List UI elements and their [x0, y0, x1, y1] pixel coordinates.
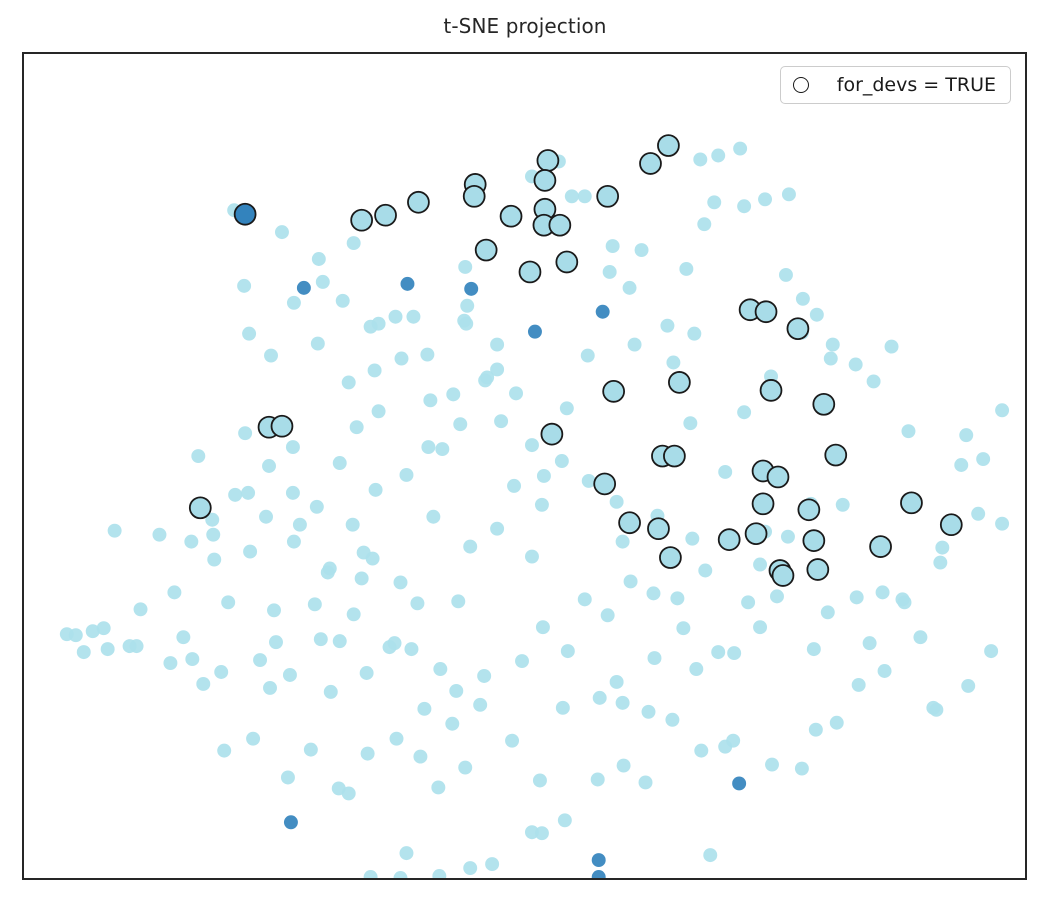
- data-point: [267, 603, 281, 617]
- data-point: [870, 536, 891, 557]
- data-point: [732, 776, 746, 790]
- data-point: [619, 512, 640, 533]
- data-point: [321, 566, 335, 580]
- data-point: [536, 620, 550, 634]
- data-point: [603, 381, 624, 402]
- data-point: [697, 217, 711, 231]
- data-point: [525, 438, 539, 452]
- scatter-plot-canvas: [24, 54, 1025, 878]
- data-point: [581, 349, 595, 363]
- data-point: [399, 468, 413, 482]
- data-point: [420, 348, 434, 362]
- data-point: [214, 665, 228, 679]
- data-point: [660, 319, 674, 333]
- data-point: [610, 675, 624, 689]
- data-point: [297, 281, 311, 295]
- data-point: [287, 296, 301, 310]
- data-point: [351, 210, 372, 231]
- data-point: [304, 743, 318, 757]
- data-point: [185, 652, 199, 666]
- data-point: [624, 574, 638, 588]
- data-point: [694, 744, 708, 758]
- data-point: [959, 428, 973, 442]
- data-point: [617, 759, 631, 773]
- data-point: [935, 541, 949, 555]
- page-title: t-SNE projection: [0, 14, 1050, 38]
- data-point: [628, 338, 642, 352]
- data-point: [458, 761, 472, 775]
- data-point: [761, 380, 782, 401]
- data-point: [679, 262, 693, 276]
- data-point: [108, 524, 122, 538]
- data-point: [347, 607, 361, 621]
- data-point: [410, 596, 424, 610]
- data-point: [355, 571, 369, 585]
- data-point: [913, 630, 927, 644]
- data-point: [494, 414, 508, 428]
- data-point: [768, 466, 789, 487]
- data-point: [361, 747, 375, 761]
- data-point: [241, 486, 255, 500]
- data-point: [389, 310, 403, 324]
- data-point: [176, 630, 190, 644]
- data-point: [665, 713, 679, 727]
- data-point: [476, 240, 497, 261]
- data-point: [597, 186, 618, 207]
- data-point: [664, 446, 685, 467]
- data-point: [658, 135, 679, 156]
- data-point: [163, 656, 177, 670]
- data-point: [360, 666, 374, 680]
- scatter-series: [190, 135, 962, 586]
- data-point: [647, 586, 661, 600]
- data-point: [449, 684, 463, 698]
- data-point: [901, 492, 922, 513]
- data-point: [394, 871, 408, 878]
- data-point: [451, 594, 465, 608]
- data-point: [404, 642, 418, 656]
- data-points-layer: [60, 135, 1009, 878]
- data-point: [333, 456, 347, 470]
- data-point: [101, 642, 115, 656]
- data-point: [961, 679, 975, 693]
- data-point: [311, 337, 325, 351]
- data-point: [971, 507, 985, 521]
- data-point: [507, 479, 521, 493]
- data-point: [623, 281, 637, 295]
- data-point: [737, 405, 751, 419]
- data-point: [737, 199, 751, 213]
- data-point: [346, 518, 360, 532]
- data-point: [152, 528, 166, 542]
- data-point: [283, 668, 297, 682]
- data-point: [515, 654, 529, 668]
- data-point: [264, 349, 278, 363]
- data-point: [453, 417, 467, 431]
- data-point: [876, 585, 890, 599]
- data-point: [272, 416, 293, 437]
- data-point: [826, 338, 840, 352]
- data-point: [711, 149, 725, 163]
- data-point: [809, 723, 823, 737]
- scatter-series: [235, 204, 256, 225]
- data-point: [534, 170, 555, 191]
- data-point: [601, 608, 615, 622]
- data-point: [314, 632, 328, 646]
- data-point: [207, 553, 221, 567]
- data-point: [782, 187, 796, 201]
- data-point: [408, 192, 429, 213]
- data-point: [246, 732, 260, 746]
- data-point: [206, 528, 220, 542]
- data-point: [867, 374, 881, 388]
- data-point: [741, 595, 755, 609]
- data-point: [473, 698, 487, 712]
- data-point: [312, 252, 326, 266]
- data-point: [394, 575, 408, 589]
- data-point: [433, 662, 447, 676]
- data-point: [807, 642, 821, 656]
- data-point: [490, 522, 504, 536]
- data-point: [726, 734, 740, 748]
- data-point: [342, 786, 356, 800]
- data-point: [190, 497, 211, 518]
- data-point: [549, 215, 570, 236]
- data-point: [558, 813, 572, 827]
- data-point: [616, 696, 630, 710]
- data-point: [596, 305, 610, 319]
- data-point: [395, 352, 409, 366]
- data-point: [640, 153, 661, 174]
- data-point: [284, 815, 298, 829]
- data-point: [610, 495, 624, 509]
- data-point: [259, 510, 273, 524]
- data-point: [281, 771, 295, 785]
- data-point: [863, 636, 877, 650]
- data-point: [578, 189, 592, 203]
- data-point: [798, 499, 819, 520]
- data-point: [594, 473, 615, 494]
- data-point: [134, 602, 148, 616]
- data-point: [286, 440, 300, 454]
- data-point: [390, 732, 404, 746]
- data-point: [237, 279, 251, 293]
- data-point: [556, 252, 577, 273]
- data-point: [184, 535, 198, 549]
- data-point: [520, 261, 541, 282]
- data-point: [421, 440, 435, 454]
- data-point: [69, 628, 83, 642]
- data-point: [235, 204, 256, 225]
- data-point: [821, 605, 835, 619]
- data-point: [765, 758, 779, 772]
- data-point: [555, 454, 569, 468]
- data-point: [400, 277, 414, 291]
- data-point: [727, 646, 741, 660]
- data-point: [683, 416, 697, 430]
- data-point: [954, 458, 968, 472]
- data-point: [976, 452, 990, 466]
- data-point: [836, 498, 850, 512]
- data-point: [541, 424, 562, 445]
- data-point: [423, 393, 437, 407]
- data-point: [316, 275, 330, 289]
- data-point: [485, 857, 499, 871]
- data-point: [490, 338, 504, 352]
- data-point: [269, 635, 283, 649]
- data-point: [364, 870, 378, 878]
- data-point: [537, 469, 551, 483]
- data-point: [123, 639, 137, 653]
- data-point: [342, 375, 356, 389]
- data-point: [885, 340, 899, 354]
- data-point: [711, 645, 725, 659]
- data-point: [287, 535, 301, 549]
- data-point: [616, 535, 630, 549]
- data-point: [878, 664, 892, 678]
- data-point: [293, 518, 307, 532]
- data-point: [685, 532, 699, 546]
- data-point: [464, 186, 485, 207]
- data-point: [350, 420, 364, 434]
- data-point: [460, 299, 474, 313]
- data-point: [509, 386, 523, 400]
- data-point: [308, 597, 322, 611]
- data-point: [446, 387, 460, 401]
- data-point: [463, 540, 477, 554]
- data-point: [275, 225, 289, 239]
- data-point: [336, 294, 350, 308]
- data-point: [417, 702, 431, 716]
- data-point: [426, 510, 440, 524]
- legend: for_devs = TRUE: [780, 66, 1011, 104]
- data-point: [901, 424, 915, 438]
- data-point: [810, 308, 824, 322]
- data-point: [746, 523, 767, 544]
- data-point: [286, 486, 300, 500]
- data-point: [565, 189, 579, 203]
- data-point: [406, 310, 420, 324]
- data-point: [477, 669, 491, 683]
- data-point: [825, 445, 846, 466]
- data-point: [537, 150, 558, 171]
- data-point: [324, 685, 338, 699]
- legend-label: for_devs = TRUE: [837, 74, 996, 96]
- data-point: [660, 547, 681, 568]
- data-point: [689, 662, 703, 676]
- legend-circle-icon: [793, 77, 809, 93]
- data-point: [383, 640, 397, 654]
- data-point: [535, 826, 549, 840]
- data-point: [807, 559, 828, 580]
- data-point: [458, 260, 472, 274]
- data-point: [77, 645, 91, 659]
- data-point: [995, 403, 1009, 417]
- data-point: [779, 268, 793, 282]
- data-point: [435, 442, 449, 456]
- data-point: [263, 681, 277, 695]
- data-point: [347, 236, 361, 250]
- data-point: [849, 358, 863, 372]
- data-point: [228, 488, 242, 502]
- data-point: [753, 493, 774, 514]
- data-point: [243, 545, 257, 559]
- data-point: [593, 691, 607, 705]
- data-point: [603, 265, 617, 279]
- data-point: [770, 589, 784, 603]
- data-point: [535, 498, 549, 512]
- data-point: [431, 780, 445, 794]
- data-point: [591, 773, 605, 787]
- data-point: [669, 372, 690, 393]
- data-point: [756, 301, 777, 322]
- data-point: [432, 869, 446, 878]
- data-point: [796, 292, 810, 306]
- data-point: [687, 327, 701, 341]
- data-point: [707, 195, 721, 209]
- data-point: [445, 717, 459, 731]
- data-point: [773, 565, 794, 586]
- data-point: [933, 556, 947, 570]
- data-point: [781, 530, 795, 544]
- data-point: [698, 564, 712, 578]
- data-point: [560, 401, 574, 415]
- tsne-scatter-figure: t-SNE projection for_devs = TRUE: [0, 0, 1050, 900]
- data-point: [310, 500, 324, 514]
- data-point: [97, 621, 111, 635]
- data-point: [787, 318, 808, 339]
- data-point: [505, 734, 519, 748]
- data-point: [364, 320, 378, 334]
- data-point: [795, 762, 809, 776]
- data-point: [852, 678, 866, 692]
- data-point: [372, 404, 386, 418]
- data-point: [238, 426, 252, 440]
- data-point: [941, 514, 962, 535]
- data-point: [995, 517, 1009, 531]
- data-point: [666, 356, 680, 370]
- data-point: [830, 716, 844, 730]
- data-point: [648, 651, 662, 665]
- data-point: [221, 595, 235, 609]
- data-point: [217, 744, 231, 758]
- data-point: [753, 620, 767, 634]
- data-point: [648, 518, 669, 539]
- data-point: [262, 459, 276, 473]
- data-point: [253, 653, 267, 667]
- data-point: [896, 592, 910, 606]
- data-point: [167, 585, 181, 599]
- data-point: [758, 192, 772, 206]
- data-point: [676, 621, 690, 635]
- data-point: [333, 634, 347, 648]
- data-point: [463, 861, 477, 875]
- data-point: [242, 327, 256, 341]
- data-point: [578, 592, 592, 606]
- data-point: [556, 701, 570, 715]
- data-point: [718, 465, 732, 479]
- data-point: [399, 846, 413, 860]
- data-point: [528, 325, 542, 339]
- data-point: [824, 352, 838, 366]
- data-point: [639, 775, 653, 789]
- data-point: [592, 853, 606, 867]
- data-point: [368, 363, 382, 377]
- data-point: [635, 243, 649, 257]
- data-point: [703, 848, 717, 862]
- data-point: [803, 530, 824, 551]
- data-point: [926, 701, 940, 715]
- data-point: [369, 483, 383, 497]
- data-point: [984, 644, 998, 658]
- data-point: [533, 774, 547, 788]
- data-point: [670, 591, 684, 605]
- data-point: [375, 205, 396, 226]
- data-point: [464, 282, 478, 296]
- data-point: [413, 750, 427, 764]
- data-point: [606, 239, 620, 253]
- data-point: [459, 317, 473, 331]
- data-point: [366, 552, 380, 566]
- data-point: [850, 590, 864, 604]
- data-point: [813, 394, 834, 415]
- plot-area: for_devs = TRUE: [22, 52, 1027, 880]
- data-point: [693, 153, 707, 167]
- data-point: [501, 206, 522, 227]
- data-point: [592, 870, 606, 878]
- data-point: [561, 644, 575, 658]
- data-point: [719, 529, 740, 550]
- data-point: [733, 142, 747, 156]
- data-point: [196, 677, 210, 691]
- data-point: [478, 373, 492, 387]
- data-point: [191, 449, 205, 463]
- data-point: [753, 558, 767, 572]
- data-point: [642, 705, 656, 719]
- data-point: [525, 550, 539, 564]
